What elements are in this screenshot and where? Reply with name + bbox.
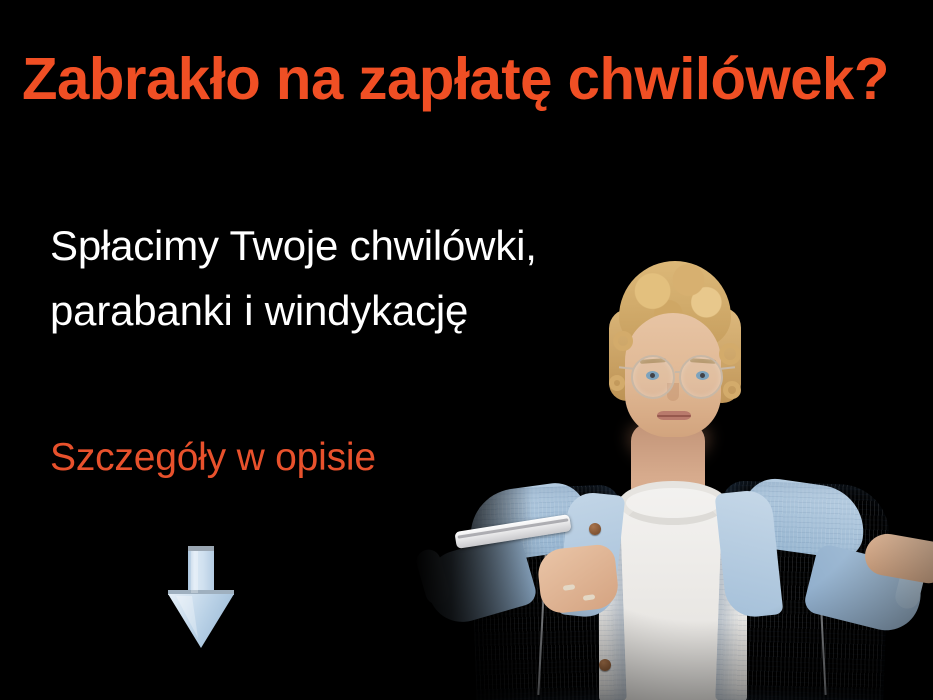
hair-updo-bun bbox=[619, 261, 731, 347]
jacket-seam-left bbox=[537, 555, 546, 695]
denim-jacket-left-panel bbox=[469, 484, 626, 700]
jacket-button bbox=[593, 591, 605, 603]
pupil-left bbox=[650, 373, 655, 378]
subheadline: Spłacimy Twoje chwilówki, parabanki i wi… bbox=[50, 213, 580, 343]
hand-holding-phone bbox=[536, 543, 620, 615]
arm-left bbox=[419, 532, 539, 630]
jacket-shoulder-right bbox=[739, 475, 870, 561]
jacket-seam-right bbox=[817, 555, 826, 695]
subheadline-line-2: parabanki i windykację bbox=[50, 278, 580, 343]
nose bbox=[667, 383, 679, 401]
ear-left bbox=[615, 363, 631, 391]
denim-jacket-right-panel bbox=[715, 480, 891, 700]
hair-curl bbox=[609, 375, 625, 391]
mouth bbox=[657, 411, 691, 420]
finger-ring bbox=[583, 594, 596, 601]
neck-shadow bbox=[627, 421, 711, 461]
hair-side-left bbox=[609, 309, 643, 401]
mouth-line bbox=[657, 415, 691, 417]
advertisement-banner: Zabrakło na zapłatę chwilówek? Spłacimy … bbox=[0, 0, 933, 700]
jacket-button bbox=[599, 659, 611, 671]
ear-right bbox=[715, 363, 731, 391]
eyeglasses-lens-left bbox=[631, 355, 675, 399]
eye-right bbox=[696, 371, 709, 380]
down-arrow-icon bbox=[164, 544, 244, 652]
eyebrow-left bbox=[640, 358, 666, 364]
eyeglasses-lens-right bbox=[679, 355, 723, 399]
tshirt-collar bbox=[619, 481, 727, 525]
eyebrow-right bbox=[690, 358, 716, 364]
sleeve-cuff-left bbox=[414, 547, 453, 607]
jacket-shoulder-left bbox=[465, 479, 592, 565]
neck bbox=[631, 423, 705, 513]
cta-text: Szczegóły w opisie bbox=[50, 435, 376, 482]
smartphone bbox=[454, 514, 571, 549]
jacket-lapel-right bbox=[715, 488, 784, 619]
eye-left bbox=[646, 371, 659, 380]
arm-right bbox=[802, 542, 928, 637]
eyeglasses-temple-left bbox=[619, 366, 633, 369]
finger-ring bbox=[563, 584, 576, 591]
eyeglasses-temple-right bbox=[721, 366, 735, 369]
sleeve-cuff-right bbox=[893, 553, 929, 611]
headline: Zabrakło na zapłatę chwilówek? bbox=[22, 48, 909, 112]
subheadline-line-1: Spłacimy Twoje chwilówki, bbox=[50, 213, 580, 278]
jacket-button bbox=[589, 523, 601, 535]
face bbox=[625, 313, 721, 437]
hair-curl bbox=[719, 343, 741, 365]
hair-side-right bbox=[705, 307, 741, 403]
open-palm-hand-right bbox=[862, 530, 933, 585]
hair-curl bbox=[613, 331, 633, 351]
white-tshirt bbox=[599, 483, 747, 700]
hair-curl bbox=[723, 381, 741, 399]
smartphone-edge bbox=[457, 518, 568, 538]
eyeglasses-bridge bbox=[675, 371, 681, 373]
pupil-right bbox=[700, 373, 705, 378]
jacket-lapel-left bbox=[557, 490, 626, 619]
